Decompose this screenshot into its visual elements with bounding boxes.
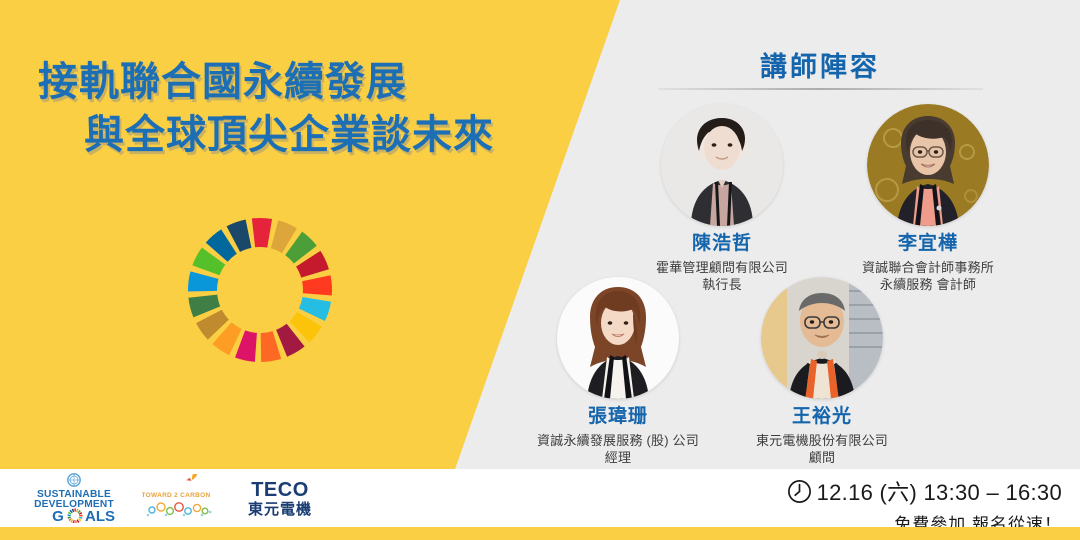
- clock-icon: [787, 479, 812, 504]
- speaker-name: 張瑋珊: [508, 406, 728, 429]
- svg-text:東元電機: 東元電機: [248, 500, 312, 518]
- svg-text:ALS: ALS: [85, 508, 115, 523]
- speaker-org: 東元電機股份有限公司: [712, 432, 932, 450]
- partner-logo: TOWARD 2 CARBON: [142, 474, 214, 522]
- speaker-card-4: 王裕光 東元電機股份有限公司 顧問: [712, 277, 932, 467]
- logo-group: SUSTAINABLE DEVELOPMENT G ALS T: [28, 473, 324, 523]
- speaker-name: 王裕光: [712, 406, 932, 429]
- speaker-card-2: 李宜樺 資誠聯合會計師事務所 永續服務 會計師: [818, 104, 1038, 294]
- headline-line-2: 與全球頂尖企業談未來: [34, 109, 554, 162]
- title-divider: [658, 88, 983, 90]
- event-datetime: 12.16 (六) 13:30 – 16:30: [817, 475, 1062, 507]
- speaker-photo-wang-yu-guang: [761, 277, 883, 399]
- event-datetime-row: 12.16 (六) 13:30 – 16:30: [787, 475, 1062, 507]
- speaker-photo-chen-hao-zhe: [661, 104, 783, 226]
- speaker-name: 陳浩哲: [612, 233, 832, 256]
- speaker-org: 資誠永續發展服務 (股) 公司: [508, 432, 728, 450]
- svg-text:TECO: TECO: [251, 479, 309, 501]
- speaker-photo-zhang-wei-shan: [557, 277, 679, 399]
- speakers-section-title: 講師陣容: [660, 45, 980, 84]
- speaker-name: 李宜樺: [818, 233, 1038, 256]
- event-banner: 接軌聯合國永續發展 與全球頂尖企業談未來 講師陣容: [0, 0, 1080, 540]
- bottom-accent-bar: [0, 527, 1080, 540]
- speaker-card-3: 張瑋珊 資誠永續發展服務 (股) 公司 經理: [508, 277, 728, 467]
- speaker-org: 霍華管理顧問有限公司: [612, 259, 832, 277]
- un-sdg-logo: SUSTAINABLE DEVELOPMENT G ALS: [28, 473, 120, 523]
- headline-line-1: 接軌聯合國永續發展: [34, 56, 554, 109]
- page-title: 接軌聯合國永續發展 與全球頂尖企業談未來: [34, 56, 554, 162]
- svg-text:TOWARD 2 CARBON: TOWARD 2 CARBON: [142, 492, 211, 499]
- speaker-org: 資誠聯合會計師事務所: [818, 259, 1038, 277]
- footer: SUSTAINABLE DEVELOPMENT G ALS T: [0, 469, 1080, 527]
- banner-stage: 接軌聯合國永續發展 與全球頂尖企業談未來 講師陣容: [0, 0, 1080, 469]
- event-info: 12.16 (六) 13:30 – 16:30 免費參加 報名從速！: [787, 475, 1062, 535]
- svg-text:G: G: [52, 508, 64, 523]
- speaker-role: 顧問: [712, 449, 932, 467]
- sdg-color-wheel: [186, 216, 334, 364]
- speaker-role: 經理: [508, 449, 728, 467]
- teco-logo: TECO 東元電機: [236, 474, 324, 522]
- speaker-photo-li-yi-hua: [867, 104, 989, 226]
- speaker-card-1: 陳浩哲 霍華管理顧問有限公司 執行長: [612, 104, 832, 294]
